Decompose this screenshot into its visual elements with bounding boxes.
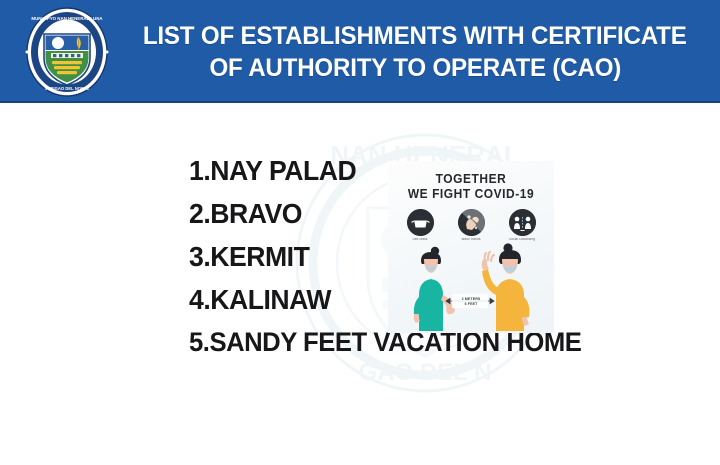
covid-icon-wash-hands: Wash Hands <box>449 209 493 242</box>
page-title: LIST OF ESTABLISHMENTS WITH CERTIFICATE … <box>118 6 712 98</box>
svg-text:MUNISIPYO NAN HENERAL LUNA: MUNISIPYO NAN HENERAL LUNA <box>31 16 103 21</box>
covid-icon-row: Use Mask Wash Hands <box>398 209 544 242</box>
list-item: 5.SANDY FEET VACATION HOME <box>189 329 588 372</box>
covid-people-illustration: 2 METERS 6 FEET <box>388 243 554 333</box>
page-title-line-1: LIST OF ESTABLISHMENTS WITH CERTIFICATE <box>143 20 687 52</box>
distance-label-line-2: 6 FEET <box>440 302 502 307</box>
covid-icon-caption: Wash Hands <box>449 238 493 242</box>
covid-icon-social-distancing: Social Distancing <box>500 209 544 242</box>
page-title-line-2: OF AUTHORITY TO OPERATE (CAO) <box>209 52 621 84</box>
header-band: MUNISIPYO NAN HENERAL LUNA SURIGAO DEL N… <box>0 0 720 103</box>
person-left <box>414 247 455 331</box>
body-area: NAN HENERAL GAO DEL N 1.NAY PALAD 2.BRAV… <box>0 103 720 465</box>
covid-awareness-graphic: TOGETHER WE FIGHT COVID-19 Use Mask <box>388 161 554 333</box>
person-right <box>482 243 530 331</box>
social-distancing-icon <box>509 209 536 236</box>
covid-icon-use-mask: Use Mask <box>398 209 442 242</box>
svg-text:SURIGAO DEL NORTE: SURIGAO DEL NORTE <box>45 86 90 91</box>
covid-headline-line-1: TOGETHER <box>395 171 548 186</box>
face-mask-icon <box>407 209 434 236</box>
distance-label: 2 METERS 6 FEET <box>440 297 502 307</box>
covid-icon-caption: Social Distancing <box>500 238 544 242</box>
poster-canvas: MUNISIPYO NAN HENERAL LUNA SURIGAO DEL N… <box>0 0 720 465</box>
covid-icon-caption: Use Mask <box>398 238 442 242</box>
municipal-seal: MUNISIPYO NAN HENERAL LUNA SURIGAO DEL N… <box>18 6 116 98</box>
wash-hands-icon <box>458 209 485 236</box>
covid-headline: TOGETHER WE FIGHT COVID-19 <box>388 171 554 202</box>
covid-headline-line-2: WE FIGHT COVID-19 <box>395 186 548 201</box>
